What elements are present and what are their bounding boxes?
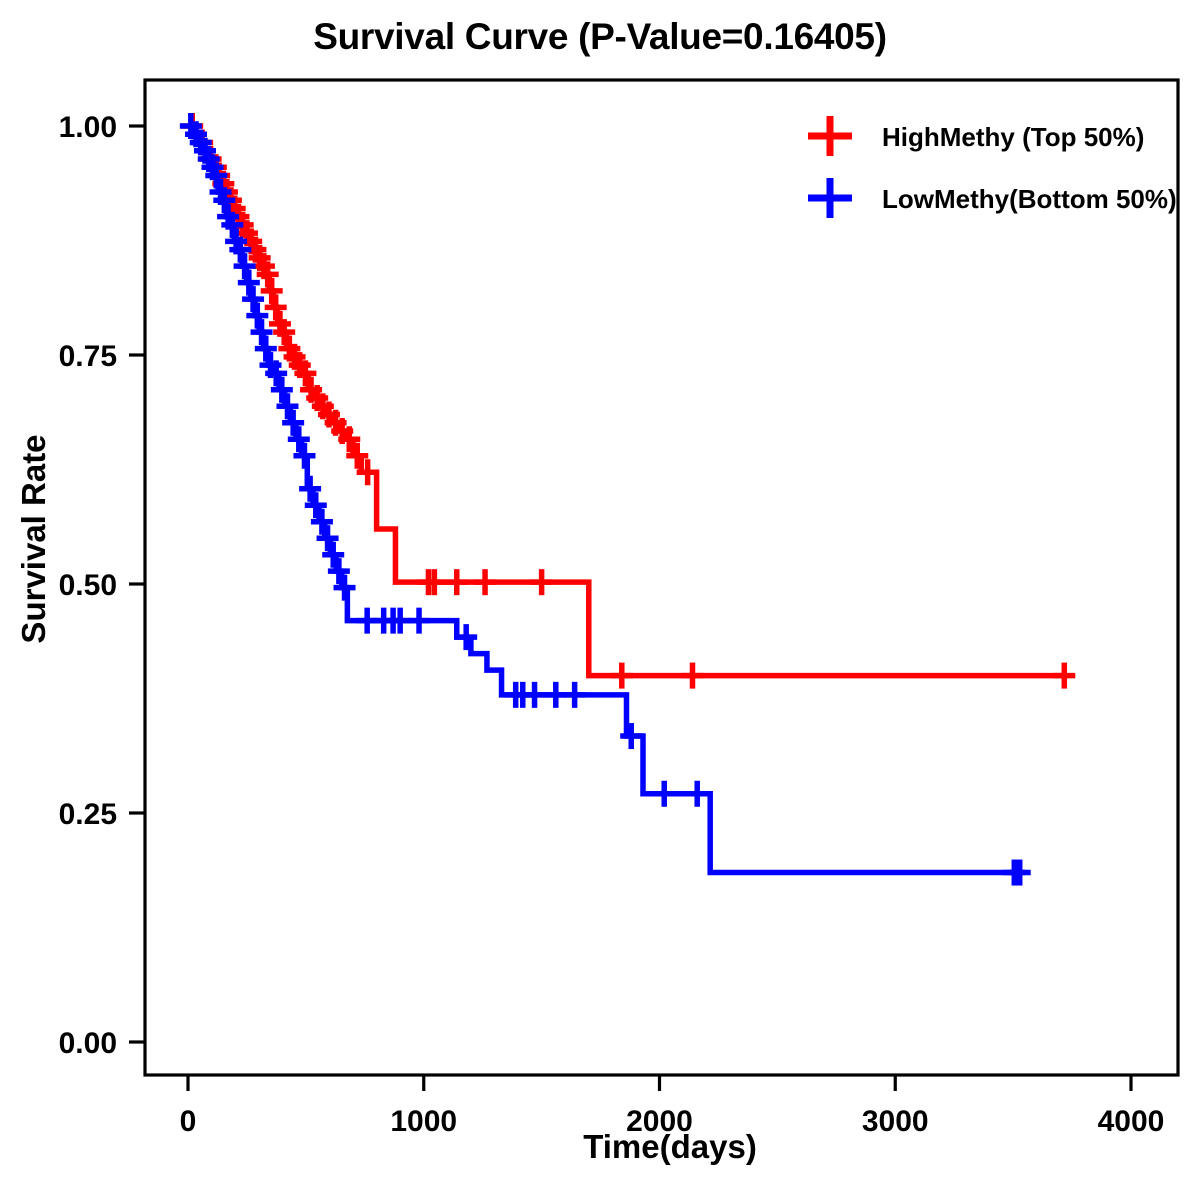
survival-curve-plot: 010002000300040000.000.250.500.751.00Hig… — [0, 0, 1200, 1200]
chart-page: Survival Curve (P-Value=0.16405) 0100020… — [0, 0, 1200, 1200]
y-axis-label: Survival Rate — [15, 409, 53, 669]
y-tick-label: 0.25 — [59, 798, 117, 831]
y-tick-label: 0.00 — [59, 1027, 117, 1060]
censor-marks-low — [180, 113, 1031, 886]
legend-item-highmethy[interactable]: HighMethy (Top 50%) — [808, 116, 1144, 156]
legend-plus-icon — [808, 116, 852, 156]
legend-label: LowMethy(Bottom 50%) — [882, 184, 1177, 214]
legend-plus-icon — [808, 178, 852, 218]
y-tick-label: 1.00 — [59, 111, 117, 144]
plot-frame — [145, 80, 1178, 1075]
legend-item-lowmethy[interactable]: LowMethy(Bottom 50%) — [808, 178, 1177, 218]
y-tick-label: 0.50 — [59, 569, 117, 602]
legend-label: HighMethy (Top 50%) — [882, 122, 1144, 152]
x-axis-label: Time(days) — [160, 1128, 1180, 1166]
y-tick-label: 0.75 — [59, 340, 117, 373]
